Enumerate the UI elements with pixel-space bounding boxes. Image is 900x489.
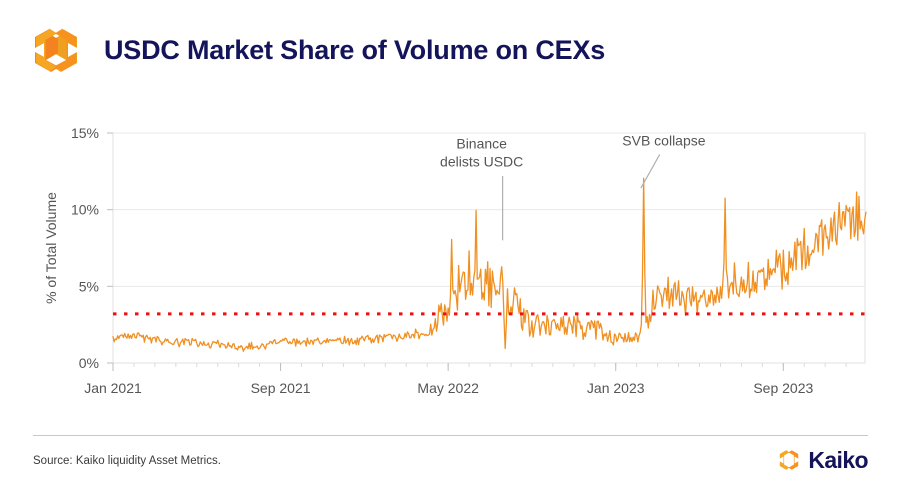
y-axis-tick-label: 10%: [71, 202, 99, 218]
x-axis-tick-label: Sep 2021: [251, 380, 311, 396]
x-axis-tick-label: May 2022: [417, 380, 479, 396]
x-axis-tick-labels: Jan 2021Sep 2021May 2022Jan 2023Sep 2023: [84, 380, 813, 396]
kaiko-hexagon-icon: [30, 24, 82, 76]
x-axis-tick-label: Jan 2023: [587, 380, 645, 396]
footer-wordmark: Kaiko: [808, 449, 868, 472]
y-axis-tick-marks: [107, 133, 113, 363]
y-axis-tick-labels: 0%5%10%15%: [71, 125, 99, 371]
x-axis-tick-label: Sep 2023: [753, 380, 813, 396]
footer-brand: Kaiko: [777, 448, 868, 472]
x-axis-tick-label: Jan 2021: [84, 380, 142, 396]
y-axis-tick-label: 15%: [71, 125, 99, 141]
chart-svg: 0%5%10%15% % of Total Volume Jan 2021Sep…: [0, 100, 900, 420]
annotation-label: delists USDC: [440, 153, 523, 169]
chart-container: 0%5%10%15% % of Total Volume Jan 2021Sep…: [0, 100, 900, 420]
page-title: USDC Market Share of Volume on CEXs: [104, 35, 605, 66]
page-footer: Source: Kaiko liquidity Asset Metrics. K…: [0, 420, 900, 489]
y-axis-tick-label: 0%: [79, 355, 99, 371]
x-axis-minor-ticks: [113, 363, 846, 367]
annotation-label: SVB collapse: [622, 132, 705, 148]
y-axis-title: % of Total Volume: [43, 192, 59, 304]
source-note: Source: Kaiko liquidity Asset Metrics.: [33, 455, 221, 467]
x-axis-major-ticks: [113, 363, 783, 371]
footer-divider: [33, 435, 868, 436]
page-header: USDC Market Share of Volume on CEXs: [0, 0, 900, 100]
kaiko-hexagon-icon: [777, 448, 801, 472]
y-axis-tick-label: 5%: [79, 278, 99, 294]
annotation-label: Binance: [456, 135, 507, 151]
